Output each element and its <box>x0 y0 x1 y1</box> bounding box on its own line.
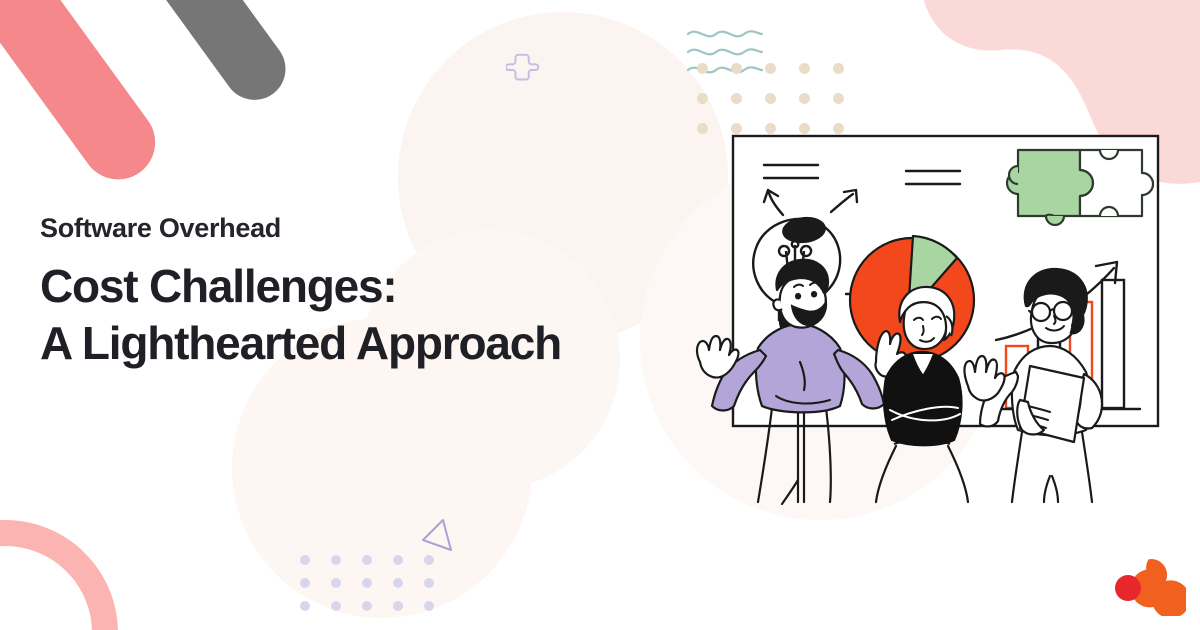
dot <box>833 93 844 104</box>
logo-red-circle <box>1115 575 1141 601</box>
dot <box>799 63 810 74</box>
page-title: Cost Challenges: A Lighthearted Approach <box>40 258 700 372</box>
dot <box>697 63 708 74</box>
dot <box>331 601 341 611</box>
dot <box>331 555 341 565</box>
pink-ring-arc <box>0 520 118 630</box>
dot <box>765 93 776 104</box>
diagonal-bar-coral <box>0 0 170 194</box>
dot <box>393 555 403 565</box>
eyebrow-label: Software Overhead <box>40 214 700 244</box>
dot <box>731 93 742 104</box>
dot <box>393 601 403 611</box>
dot <box>331 578 341 588</box>
dot <box>362 555 372 565</box>
dot <box>362 601 372 611</box>
dot <box>731 63 742 74</box>
puzzle-pieces-icon <box>1007 150 1153 225</box>
dot <box>300 601 310 611</box>
dot <box>424 578 434 588</box>
plus-icon <box>506 52 542 88</box>
diagonal-bar-gray <box>124 0 298 112</box>
banner-canvas: Software Overhead Cost Challenges: A Lig… <box>0 0 1200 630</box>
headline-block: Software Overhead Cost Challenges: A Lig… <box>40 214 700 372</box>
dot <box>799 93 810 104</box>
dot <box>424 601 434 611</box>
lavender-dot-grid <box>300 555 455 624</box>
triangle-icon <box>419 516 459 556</box>
dot <box>393 578 403 588</box>
dot <box>362 578 372 588</box>
dot <box>833 63 844 74</box>
team-presentation-illustration <box>680 110 1190 530</box>
dot <box>424 555 434 565</box>
dot <box>300 555 310 565</box>
brand-logo[interactable] <box>1112 552 1186 616</box>
dot <box>765 63 776 74</box>
dot <box>697 93 708 104</box>
dot <box>300 578 310 588</box>
